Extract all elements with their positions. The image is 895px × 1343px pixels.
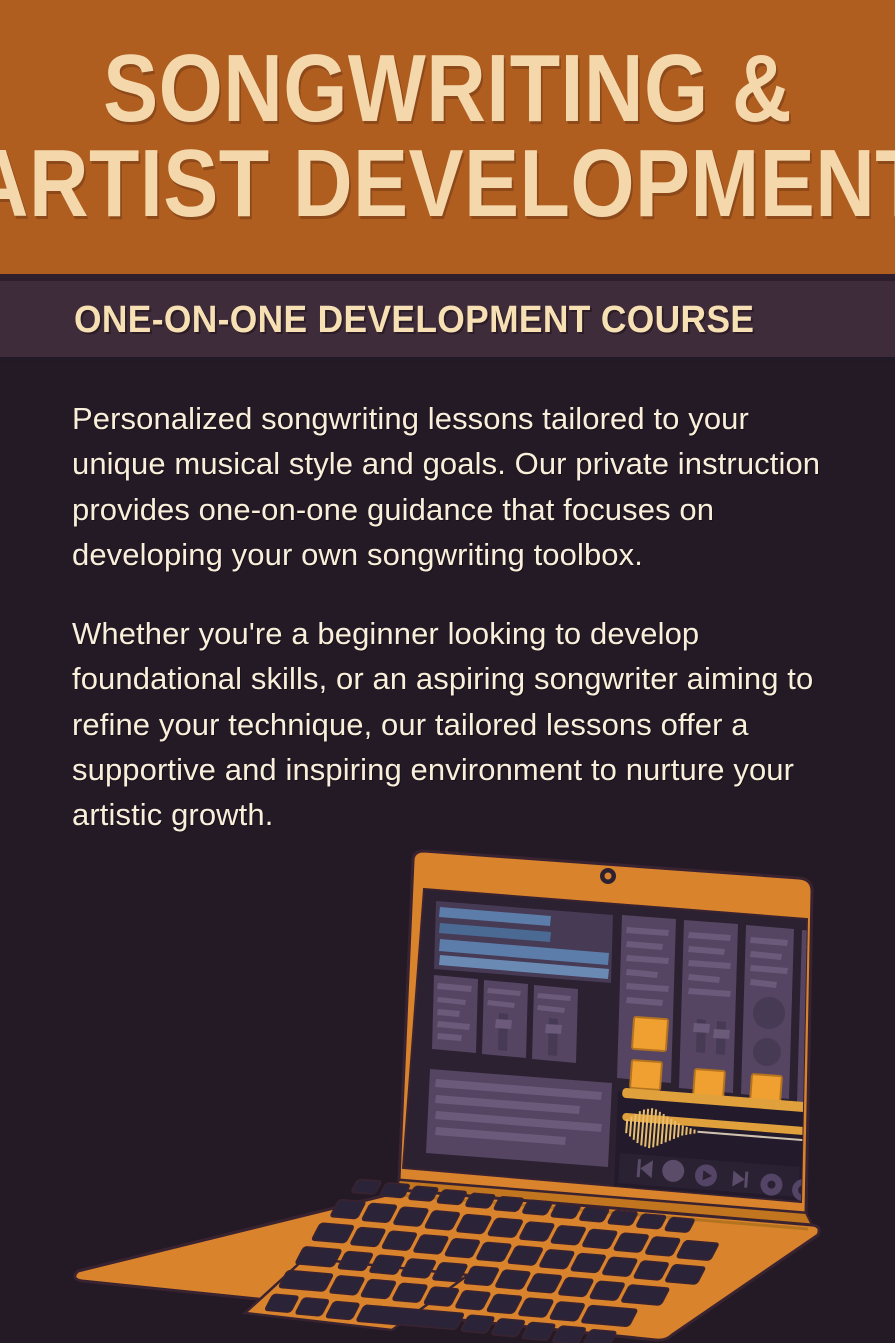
- page-title-line-2: ARTIST DEVELOPMENT: [0, 138, 895, 229]
- stop-icon: [661, 1159, 685, 1183]
- webcam-icon: [600, 868, 616, 884]
- pad-button: [750, 1074, 782, 1104]
- transport-controls: [618, 1153, 816, 1202]
- timeline-bar: [622, 1113, 808, 1136]
- loop-icon: [791, 1178, 815, 1202]
- laptop-illustration-svg: [0, 823, 895, 1343]
- audio-waveform: [624, 1106, 809, 1160]
- body-paragraph-1: Personalized songwriting lessons tailore…: [72, 396, 825, 577]
- poster-root: SONGWRITING & ARTIST DEVELOPMENT ONE-ON-…: [0, 0, 895, 1343]
- body-paragraph-2: Whether you're a beginner looking to dev…: [72, 611, 825, 837]
- daw-track-panel: [426, 901, 613, 1167]
- rewind-icon: [637, 1159, 653, 1178]
- next-icon: [732, 1171, 748, 1188]
- knob-icon: [753, 1038, 781, 1066]
- knob-icon: [753, 997, 785, 1029]
- trackpad: [245, 1258, 468, 1330]
- pad-button: [805, 1082, 837, 1112]
- subtitle-band: ONE-ON-ONE DEVELOPMENT COURSE: [0, 278, 895, 362]
- timeline-bar: [622, 1088, 808, 1113]
- daw-mixer-channels: [617, 915, 850, 1112]
- body-content: Personalized songwriting lessons tailore…: [0, 362, 895, 1343]
- daw-transport-region: [614, 1088, 816, 1202]
- keyboard-keys: [260, 1179, 724, 1343]
- pad-button: [693, 1069, 725, 1099]
- play-icon: [694, 1164, 718, 1188]
- record-icon: [760, 1173, 784, 1197]
- pad-button: [630, 1060, 662, 1090]
- laptop-lid: [399, 851, 812, 1213]
- page-title-line-1: SONGWRITING &: [103, 43, 792, 134]
- laptop-daw-illustration: [0, 823, 895, 1343]
- knob-icon: [809, 1002, 841, 1034]
- pad-button: [632, 1017, 668, 1051]
- daw-interface: [426, 901, 850, 1202]
- knob-icon: [809, 1043, 837, 1071]
- laptop-hinge: [395, 1180, 812, 1225]
- laptop-base: [75, 1179, 819, 1343]
- header-band: SONGWRITING & ARTIST DEVELOPMENT: [0, 0, 895, 278]
- course-subtitle: ONE-ON-ONE DEVELOPMENT COURSE: [74, 299, 754, 342]
